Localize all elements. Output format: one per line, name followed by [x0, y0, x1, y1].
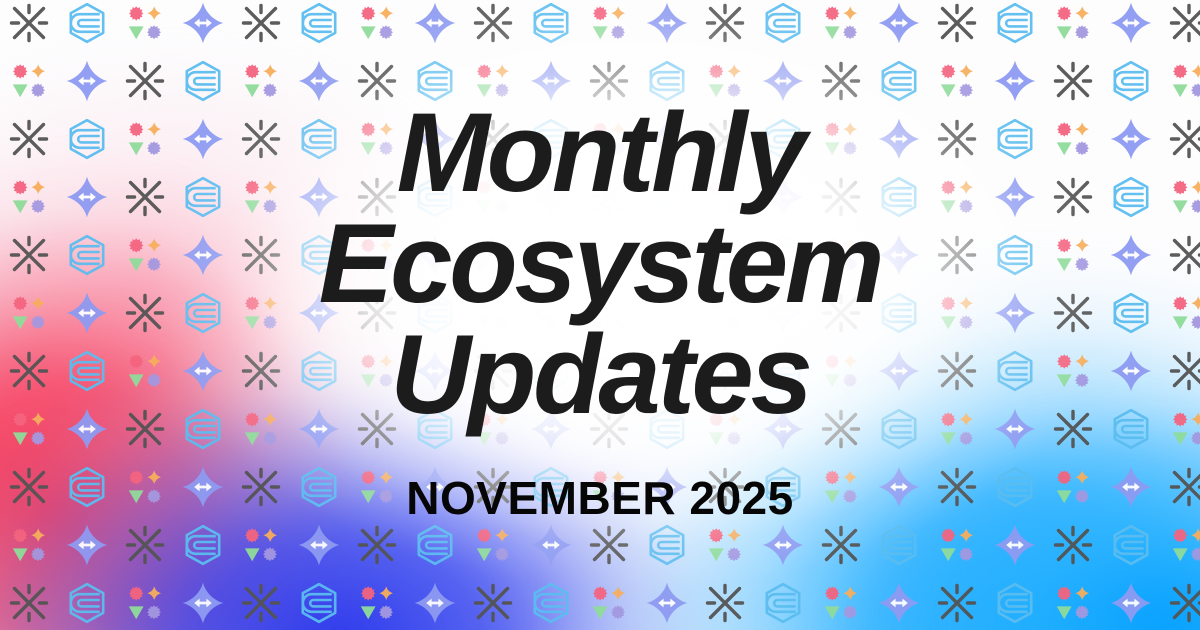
- subtitle-date: NOVEMBER 2025: [100, 471, 1100, 525]
- title-line-3: Updates: [100, 320, 1100, 431]
- banner-content: Monthly Ecosystem Updates NOVEMBER 2025: [0, 0, 1200, 630]
- monthly-ecosystem-updates-banner: Monthly Ecosystem Updates NOVEMBER 2025: [0, 0, 1200, 630]
- title-line-2: Ecosystem: [100, 209, 1100, 320]
- page-title: Monthly Ecosystem Updates: [100, 98, 1100, 431]
- title-line-1: Monthly: [100, 98, 1100, 209]
